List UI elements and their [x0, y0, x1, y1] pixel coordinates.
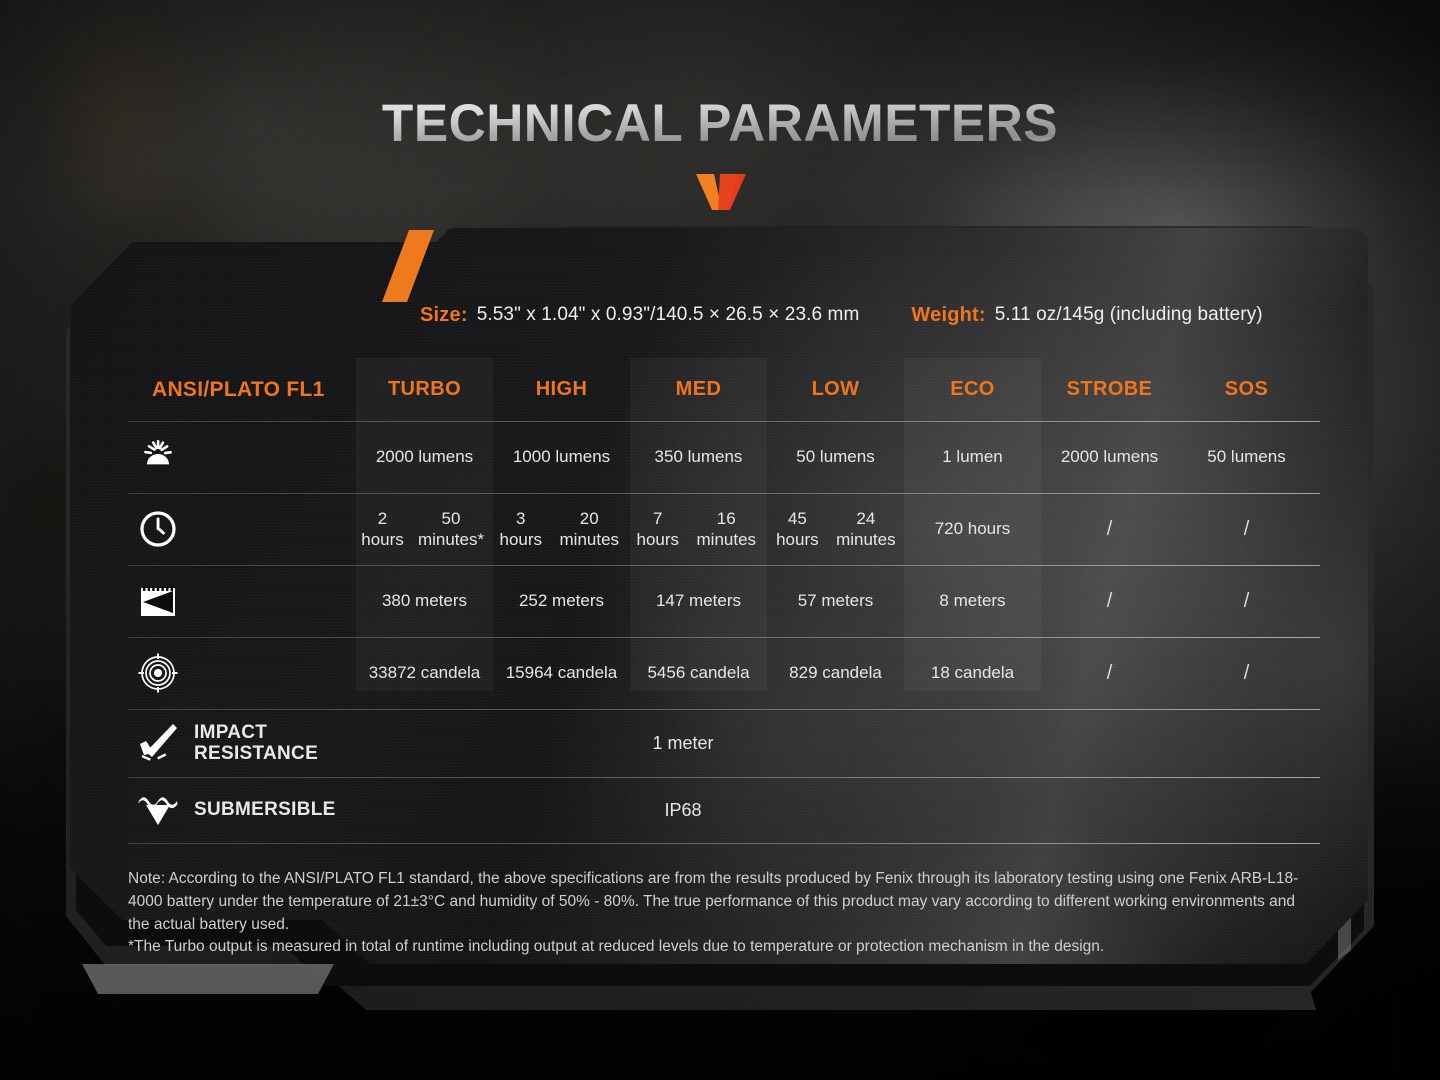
- column-header-strobe: STROBE: [1041, 358, 1178, 421]
- cell-strobe: 2000 lumens: [1041, 421, 1178, 493]
- cell-eco: 18 candela: [904, 637, 1041, 709]
- cell-low: 50 lumens: [767, 421, 904, 493]
- table-row: 33872 candela15964 candela5456 candela82…: [128, 637, 1320, 709]
- size-value: 5.53" x 1.04" x 0.93"/140.5 × 26.5 × 23.…: [477, 304, 860, 326]
- table-body: 2000 lumens1000 lumens350 lumens50 lumen…: [128, 421, 1320, 844]
- cell-high: 15964 candela: [493, 637, 630, 709]
- cell-turbo: 2000 lumens: [356, 421, 493, 493]
- row-label: IMPACTRESISTANCE: [186, 722, 318, 765]
- row-divider: [128, 777, 1320, 778]
- row-divider: [128, 493, 1320, 494]
- cell-strobe: /: [1041, 565, 1178, 637]
- cell-low: 45 hours24 minutes: [767, 493, 904, 565]
- row-divider: [128, 421, 1320, 422]
- table-row: 380 meters252 meters147 meters57 meters8…: [128, 565, 1320, 637]
- panel-content: Size: 5.53" x 1.04" x 0.93"/140.5 × 26.5…: [70, 228, 1368, 980]
- row-label-cell: [128, 565, 356, 637]
- column-header-turbo: TURBO: [356, 358, 493, 421]
- cell-med: 7 hours16 minutes: [630, 493, 767, 565]
- cell-eco: 1 lumen: [904, 421, 1041, 493]
- size-label: Size:: [420, 304, 468, 327]
- row-label-cell: IMPACTRESISTANCE: [128, 709, 356, 777]
- footnote: Note: According to the ANSI/PLATO FL1 st…: [128, 868, 1318, 959]
- column-header-high: HIGH: [493, 358, 630, 421]
- column-header-med: MED: [630, 358, 767, 421]
- footnote-line-2: *The Turbo output is measured in total o…: [128, 936, 1318, 959]
- row-divider: [128, 637, 1320, 638]
- light-burst-icon: [130, 436, 186, 478]
- table-header-row: ANSI/PLATO FL1 TURBOHIGHMEDLOWECOSTROBES…: [128, 358, 1320, 421]
- row-label-cell: [128, 493, 356, 565]
- row-divider: [128, 709, 1320, 710]
- cell-sos: 50 lumens: [1178, 421, 1315, 493]
- beam-distance-icon: [130, 580, 186, 622]
- row-label-cell: SUBMERSIBLE: [128, 777, 356, 843]
- row-divider: [128, 843, 1320, 844]
- cell-strobe: /: [1041, 493, 1178, 565]
- cell-eco: 720 hours: [904, 493, 1041, 565]
- cell-high: 3 hours20 minutes: [493, 493, 630, 565]
- row-label: SUBMERSIBLE: [186, 799, 336, 820]
- chevron-down-icon: [692, 174, 748, 210]
- title-area: TECHNICAL PARAMETERS: [0, 96, 1440, 210]
- specifications-table: ANSI/PLATO FL1 TURBOHIGHMEDLOWECOSTROBES…: [128, 358, 1320, 844]
- cell-sos: /: [1178, 493, 1315, 565]
- cell-turbo: 380 meters: [356, 565, 493, 637]
- column-header-low: LOW: [767, 358, 904, 421]
- cell-high: 1000 lumens: [493, 421, 630, 493]
- cell-sos: /: [1178, 565, 1315, 637]
- cell-med: 350 lumens: [630, 421, 767, 493]
- impact-resistance-icon: [130, 722, 186, 764]
- column-header-sos: SOS: [1178, 358, 1315, 421]
- dimensions-row: Size: 5.53" x 1.04" x 0.93"/140.5 × 26.5…: [420, 298, 1370, 332]
- cell-low: 57 meters: [767, 565, 904, 637]
- cell-strobe: /: [1041, 637, 1178, 709]
- merged-value-cell: 1 meter: [356, 709, 1320, 777]
- cell-med: 147 meters: [630, 565, 767, 637]
- page-title: TECHNICAL PARAMETERS: [22, 96, 1419, 152]
- table-row: SUBMERSIBLEIP68: [128, 777, 1320, 843]
- column-header-eco: ECO: [904, 358, 1041, 421]
- clock-icon: [130, 508, 186, 550]
- footnote-line-1: Note: According to the ANSI/PLATO FL1 st…: [128, 868, 1318, 936]
- table-row: 2000 lumens1000 lumens350 lumens50 lumen…: [128, 421, 1320, 493]
- weight-value: 5.11 oz/145g (including battery): [995, 304, 1263, 326]
- water-drop-icon: [130, 789, 186, 831]
- row-label-cell: [128, 637, 356, 709]
- row-label-cell: [128, 421, 356, 493]
- target-intensity-icon: [130, 652, 186, 694]
- cell-eco: 8 meters: [904, 565, 1041, 637]
- corner-label: ANSI/PLATO FL1: [128, 358, 356, 421]
- table-row: IMPACTRESISTANCE1 meter: [128, 709, 1320, 777]
- cell-turbo: 2 hours50 minutes*: [356, 493, 493, 565]
- cell-high: 252 meters: [493, 565, 630, 637]
- cell-low: 829 candela: [767, 637, 904, 709]
- cell-sos: /: [1178, 637, 1315, 709]
- cell-med: 5456 candela: [630, 637, 767, 709]
- cell-turbo: 33872 candela: [356, 637, 493, 709]
- weight-label: Weight:: [911, 304, 985, 327]
- row-divider: [128, 565, 1320, 566]
- table-row: 2 hours50 minutes*3 hours20 minutes7 hou…: [128, 493, 1320, 565]
- merged-value-cell: IP68: [356, 777, 1320, 843]
